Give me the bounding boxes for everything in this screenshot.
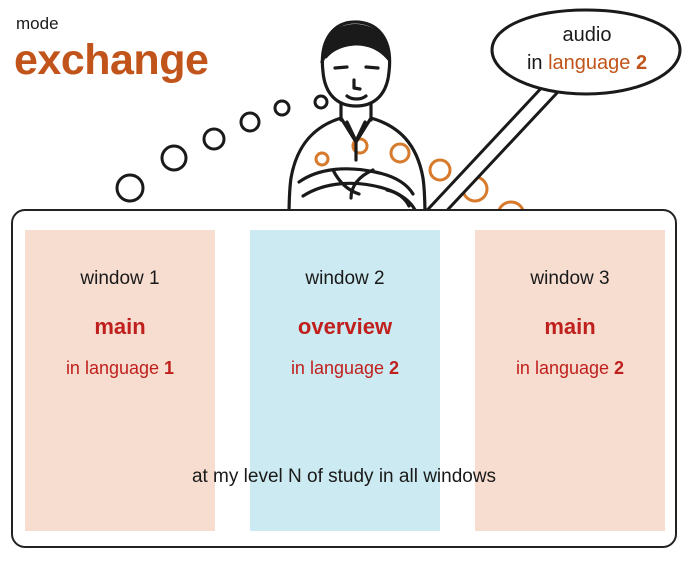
window-3-sub-prefix: in language xyxy=(516,358,614,378)
balloon-language-number: 2 xyxy=(636,52,647,74)
window-3-main: main xyxy=(475,314,665,340)
window-2-title: window 2 xyxy=(250,268,440,290)
window-3-sub: in language 2 xyxy=(475,358,665,379)
balloon-line-2-accent: language 2 xyxy=(548,52,647,74)
windows-panel: window 1 main in language 1 window 2 ove… xyxy=(11,209,677,548)
balloon-text: audio in language 2 xyxy=(500,22,674,77)
window-2-sub: in language 2 xyxy=(250,358,440,379)
window-columns: window 1 main in language 1 window 2 ove… xyxy=(13,211,675,546)
balloon-language-word: language xyxy=(548,52,636,74)
window-2-main: overview xyxy=(250,314,440,340)
window-2-sub-prefix: in language xyxy=(291,358,389,378)
window-1-sub-number: 1 xyxy=(164,358,174,378)
window-3-title: window 3 xyxy=(475,268,665,290)
window-2-sub-number: 2 xyxy=(389,358,399,378)
window-3-sub-number: 2 xyxy=(614,358,624,378)
balloon-line-2-prefix: in xyxy=(527,52,548,74)
balloon-line-1: audio xyxy=(563,24,612,46)
window-1-sub: in language 1 xyxy=(25,358,215,379)
mode-label: mode xyxy=(16,14,59,34)
footer-note: at my level N of study in all windows xyxy=(13,466,675,488)
window-1-main: main xyxy=(25,314,215,340)
window-1-title: window 1 xyxy=(25,268,215,290)
window-1-sub-prefix: in language xyxy=(66,358,164,378)
